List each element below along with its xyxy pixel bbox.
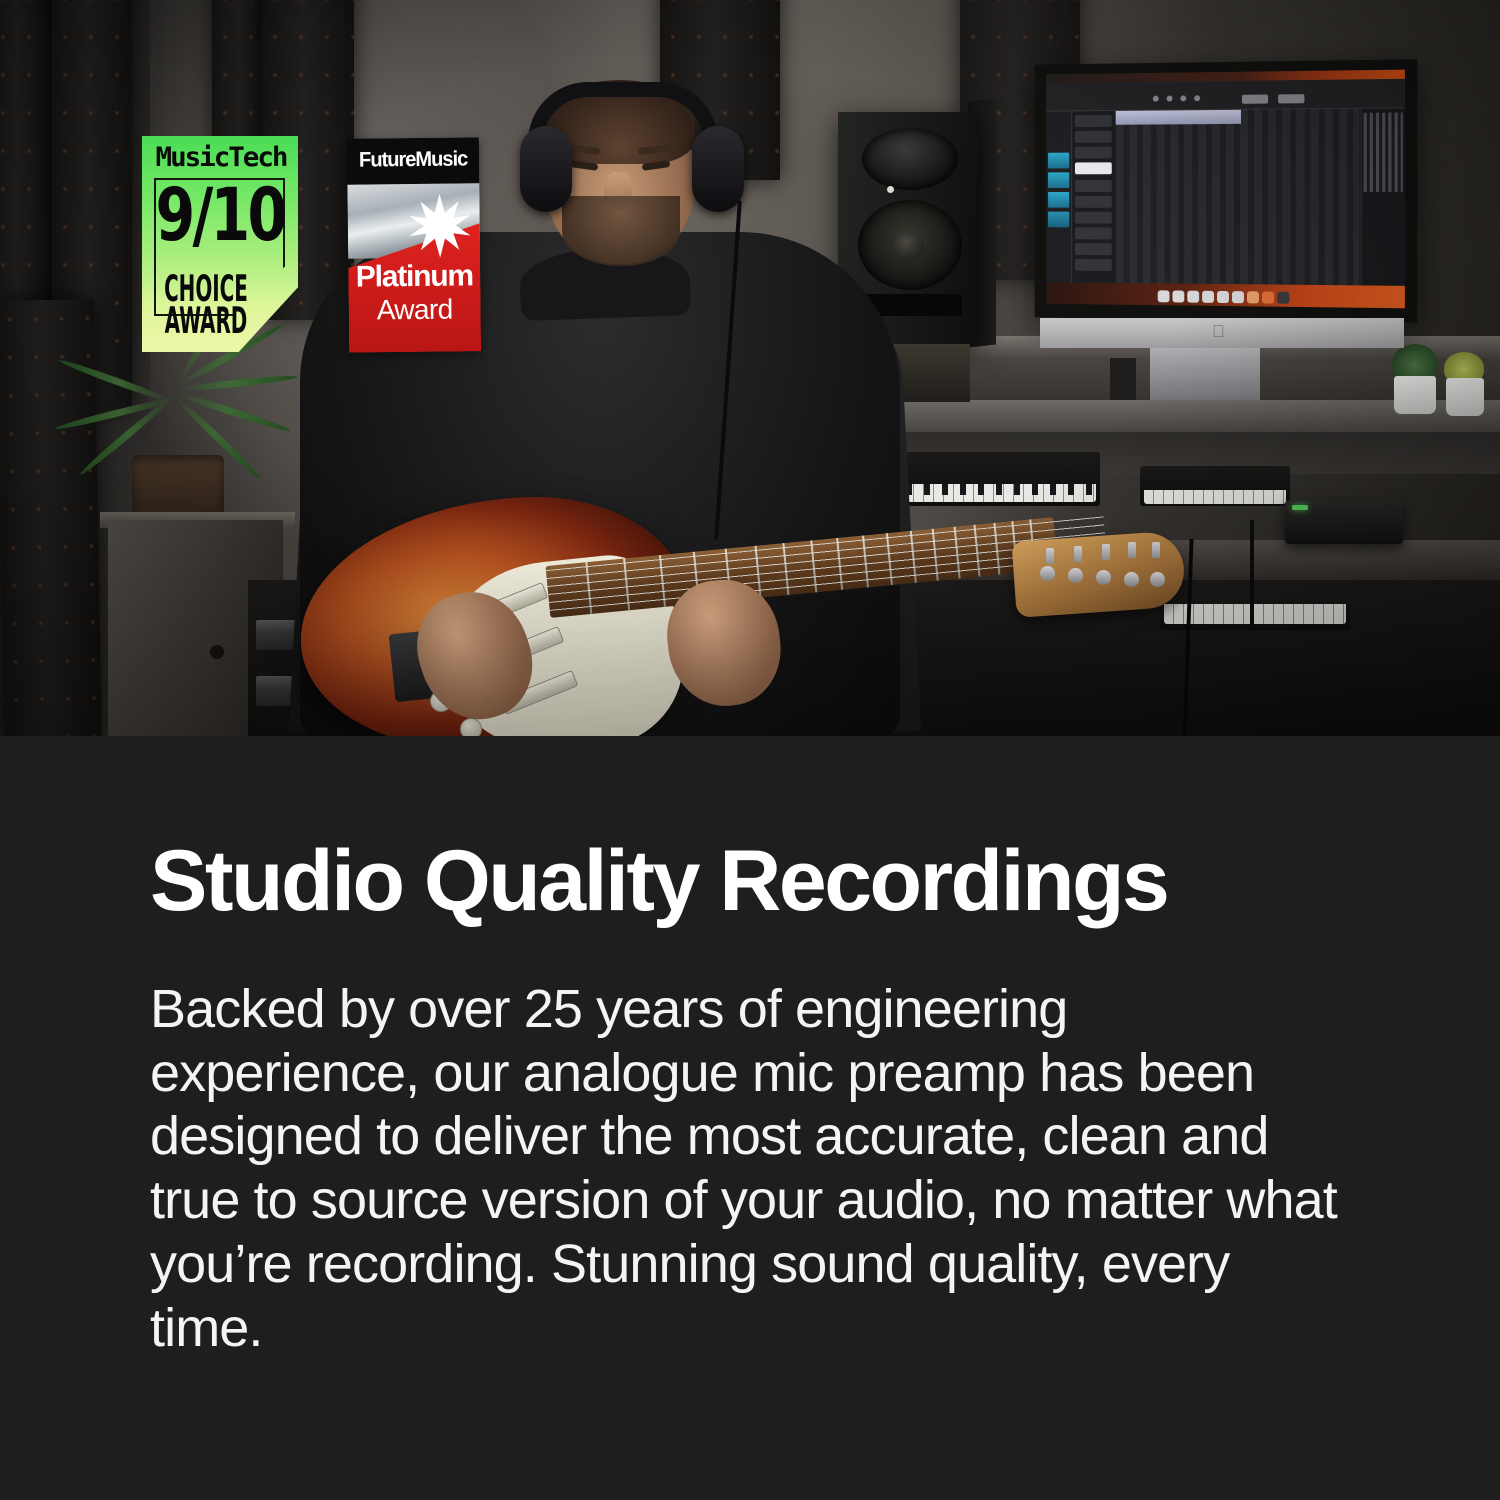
platinum-label: Platinum xyxy=(348,259,480,294)
futuremusic-platinum-award-badge: FutureMusic Platinum Award xyxy=(347,137,481,352)
headphone-ear-cup xyxy=(520,126,572,212)
tuning-peg xyxy=(1068,568,1083,583)
beard xyxy=(562,196,680,266)
futuremusic-wordmark: FutureMusic xyxy=(350,147,477,172)
studio-photo:  xyxy=(0,0,1500,736)
tuning-peg xyxy=(1040,566,1055,581)
apple-logo-icon:  xyxy=(1212,323,1225,340)
audio-region xyxy=(1116,110,1241,125)
product-feature-page:  xyxy=(0,0,1500,1500)
daw-software-window xyxy=(1046,70,1405,309)
interface-power-led xyxy=(1292,505,1308,510)
musictech-score: 9/10 xyxy=(148,178,292,251)
plant-pot xyxy=(1394,376,1436,414)
copy-section: Studio Quality Recordings Backed by over… xyxy=(0,736,1500,1500)
cabinet-knob xyxy=(210,645,224,659)
musictech-wordmark: MusicTech xyxy=(149,142,294,173)
tuning-peg xyxy=(1096,570,1111,585)
imac-stand xyxy=(1150,348,1260,400)
body-paragraph: Backed by over 25 years of engineering e… xyxy=(150,978,1350,1360)
plant-pot xyxy=(1446,378,1484,416)
macos-dock xyxy=(1046,282,1405,308)
acoustic-panel xyxy=(0,299,102,736)
headphone-ear-cup xyxy=(692,126,744,212)
mixer-strip xyxy=(1364,112,1403,192)
guitar-tone-knob xyxy=(460,718,482,736)
musictech-award-label: AWARD xyxy=(154,303,259,339)
tuning-peg xyxy=(1124,572,1139,587)
tweeter-driver xyxy=(862,128,958,190)
tuning-peg xyxy=(1150,572,1165,587)
award-label: Award xyxy=(349,293,481,326)
page-title: Studio Quality Recordings xyxy=(150,838,1410,924)
speaker-logo xyxy=(887,186,894,193)
